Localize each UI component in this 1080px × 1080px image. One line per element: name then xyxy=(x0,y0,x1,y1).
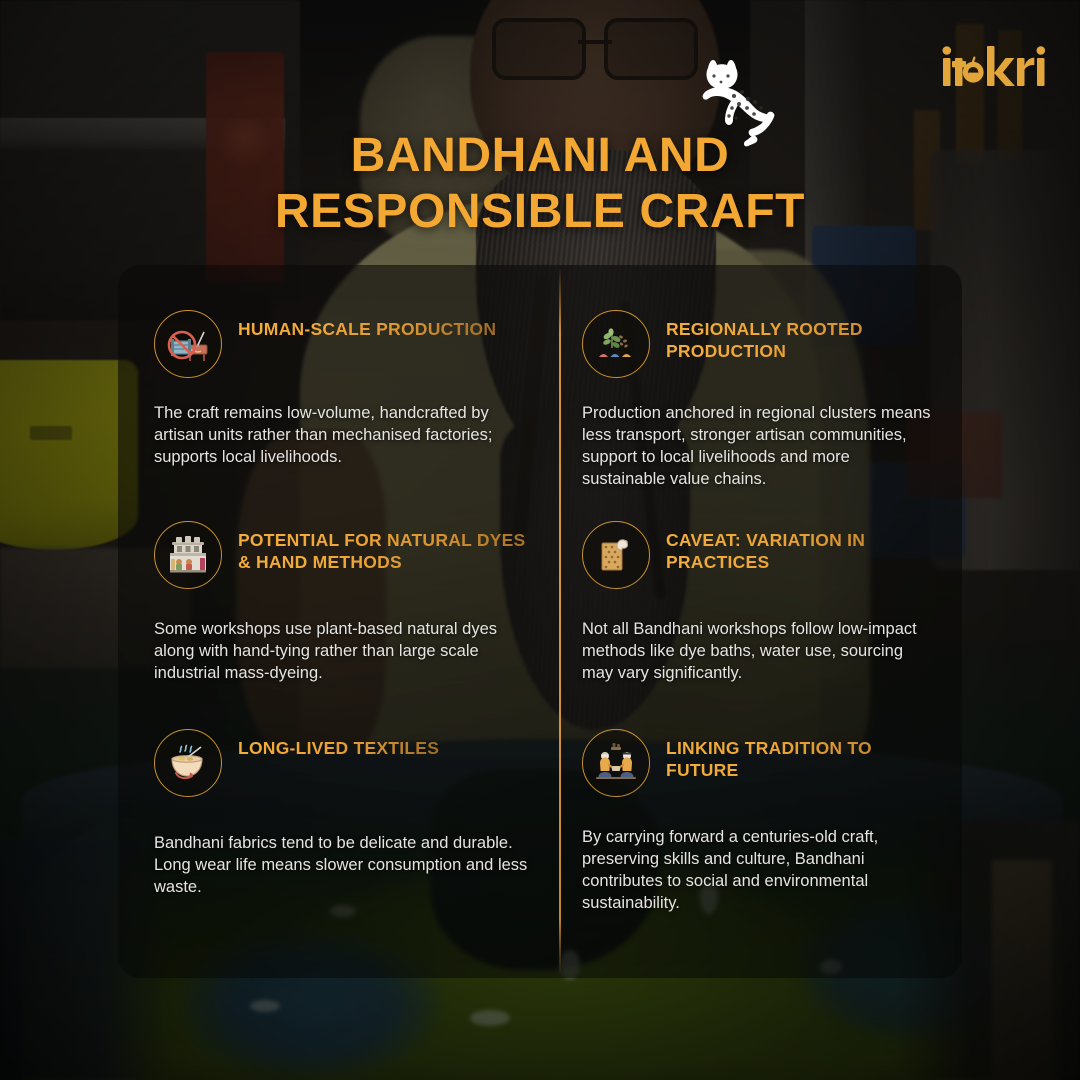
feature-card-title: LONG-LIVED TEXTILES xyxy=(238,729,439,759)
infographic-poster: BANDHANI AND RESPONSIBLE CRAFT xyxy=(0,0,1080,1080)
two-artisans-seated-icon xyxy=(582,729,650,797)
feature-card-body: Some workshops use plant-based natural d… xyxy=(154,619,537,685)
feature-card-human-scale-production[interactable]: HUMAN-SCALE PRODUCTION The craft remains… xyxy=(118,265,559,476)
page-title-line-2: RESPONSIBLE CRAFT xyxy=(275,185,805,238)
feature-card-linking-tradition-to-future[interactable]: LINKING TRADITION TO FUTURE By carrying … xyxy=(559,684,962,978)
feature-card-title: LINKING TRADITION TO FUTURE xyxy=(666,729,934,781)
feature-grid: HUMAN-SCALE PRODUCTION The craft remains… xyxy=(118,265,962,978)
seedling-dye-powders-icon xyxy=(582,310,650,378)
feature-card-title: POTENTIAL FOR NATURAL DYES & HAND METHOD… xyxy=(238,521,537,573)
feature-card-body: By carrying forward a centuries-old craf… xyxy=(582,827,934,915)
itokri-logo[interactable] xyxy=(942,42,1046,92)
steaming-dye-pot-icon xyxy=(154,729,222,797)
page-title: BANDHANI AND RESPONSIBLE CRAFT xyxy=(0,128,1080,239)
page-title-line-1: BANDHANI AND xyxy=(351,129,730,182)
feature-card-title: REGIONALLY ROOTED PRODUCTION xyxy=(666,310,934,362)
no-factory-icon xyxy=(154,310,222,378)
feature-card-caveat-variation-in-practices[interactable]: CAVEAT: VARIATION IN PRACTICES Not all B… xyxy=(559,476,962,684)
hand-holding-patterned-fabric-icon xyxy=(582,521,650,589)
feature-card-title: HUMAN-SCALE PRODUCTION xyxy=(238,310,496,340)
feature-card-body: Bandhani fabrics tend to be delicate and… xyxy=(154,833,537,899)
feature-card-regionally-rooted-production[interactable]: REGIONALLY ROOTED PRODUCTION Production … xyxy=(559,265,962,476)
feature-card-natural-dyes-hand-methods[interactable]: POTENTIAL FOR NATURAL DYES & HAND METHOD… xyxy=(118,476,559,684)
feature-card-long-lived-textiles[interactable]: LONG-LIVED TEXTILES Bandhani fabrics ten… xyxy=(118,684,559,978)
feature-card-body: Not all Bandhani workshops follow low-im… xyxy=(582,619,934,685)
feature-card-body: The craft remains low-volume, handcrafte… xyxy=(154,403,537,469)
feature-card-title: CAVEAT: VARIATION IN PRACTICES xyxy=(666,521,934,573)
craft-workshop-building-icon xyxy=(154,521,222,589)
